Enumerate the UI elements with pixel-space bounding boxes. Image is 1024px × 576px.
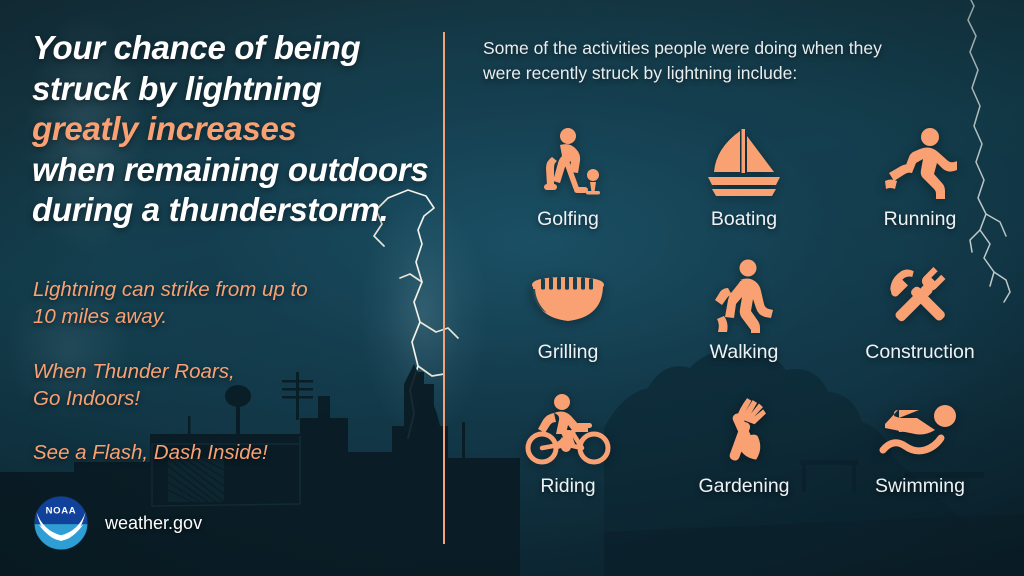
activity-label: Grilling <box>538 341 599 364</box>
activity-label: Construction <box>865 341 974 364</box>
slogan-flash-dash: See a Flash, Dash Inside! <box>33 439 428 466</box>
noaa-footer: NOAA weather.gov <box>33 495 202 551</box>
activity-label: Gardening <box>698 475 789 498</box>
golfing-icon <box>530 124 606 202</box>
activity-item-walking: Walking <box>656 257 832 390</box>
construction-icon <box>882 257 958 335</box>
activity-item-gardening: Gardening <box>656 391 832 524</box>
activity-label: Boating <box>711 208 777 231</box>
activity-label: Riding <box>540 475 595 498</box>
noaa-logo: NOAA <box>33 495 89 551</box>
walking-icon <box>715 257 773 335</box>
activity-item-construction: Construction <box>832 257 1008 390</box>
swimming-icon <box>877 391 963 469</box>
right-column: Some of the activities people were doing… <box>483 36 991 87</box>
page-title: Your chance of being struck by lightning… <box>32 28 432 231</box>
activity-item-riding: Riding <box>480 391 656 524</box>
slogan-distance: Lightning can strike from up to 10 miles… <box>33 276 428 331</box>
riding-icon <box>524 391 612 469</box>
lightning-safety-infographic: Your chance of being struck by lightning… <box>0 0 1024 576</box>
headline-line-2: struck by lightning <box>32 70 321 107</box>
slogan-list: Lightning can strike from up to 10 miles… <box>33 276 428 466</box>
weather-gov-label: weather.gov <box>105 513 202 534</box>
running-icon <box>883 124 957 202</box>
slogan-thunder: When Thunder Roars, Go Indoors! <box>33 358 428 413</box>
grilling-icon <box>528 257 608 335</box>
activity-grid: Golfing Boating <box>480 124 1008 524</box>
left-column: Your chance of being struck by lightning… <box>32 28 432 231</box>
headline-accent: greatly increases <box>32 110 297 147</box>
activity-item-boating: Boating <box>656 124 832 257</box>
noaa-logo-text: NOAA <box>46 505 77 516</box>
activity-item-golfing: Golfing <box>480 124 656 257</box>
activity-label: Walking <box>710 341 779 364</box>
headline-line-3: when remaining outdoors <box>32 151 428 188</box>
headline-line-4: during a thunderstorm. <box>32 191 388 228</box>
column-divider <box>443 32 445 544</box>
activity-label: Running <box>884 208 957 231</box>
boating-icon <box>704 124 784 202</box>
headline-line-1: Your chance of being <box>32 29 360 66</box>
activity-item-swimming: Swimming <box>832 391 1008 524</box>
activities-intro: Some of the activities people were doing… <box>483 36 991 87</box>
activity-label: Swimming <box>875 475 965 498</box>
gardening-icon <box>708 391 780 469</box>
activity-label: Golfing <box>537 208 599 231</box>
activity-item-grilling: Grilling <box>480 257 656 390</box>
activity-item-running: Running <box>832 124 1008 257</box>
